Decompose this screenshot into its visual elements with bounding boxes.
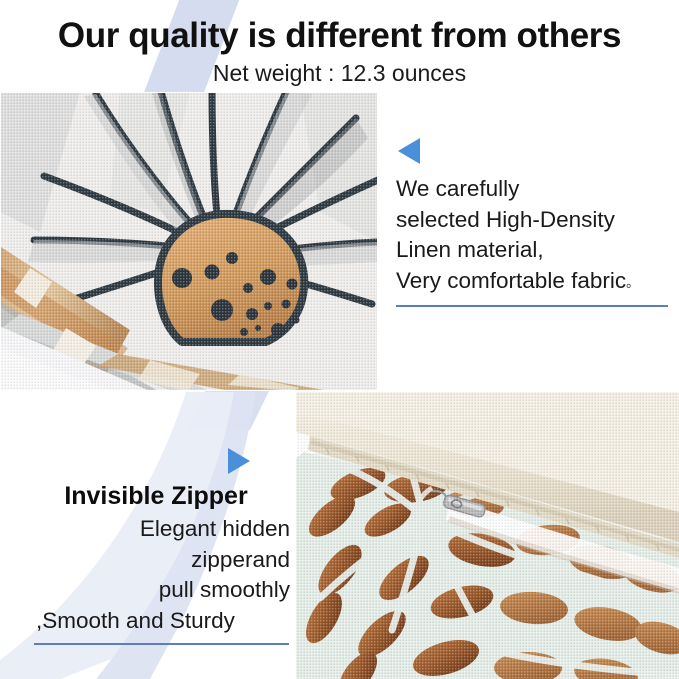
triangle-left-icon — [398, 138, 420, 164]
callout-zipper: Invisible Zipper Elegant hidden zipperan… — [22, 448, 290, 645]
callout-zipper-line-4: ,Smooth and Sturdy — [22, 606, 290, 637]
callout-zipper-rule — [34, 643, 289, 645]
callout-zipper-heading: Invisible Zipper — [22, 480, 290, 512]
callout-material-text: We carefully selected High-Density Linen… — [396, 174, 668, 298]
full-width-period-mark: 。 — [626, 275, 639, 290]
callout-zipper-line-2: zipperand — [22, 545, 290, 576]
callout-zipper-text: Elegant hidden zipperand pull smoothly ,… — [22, 514, 290, 636]
page-title: Our quality is different from others — [0, 14, 679, 58]
callout-material-line-1: We carefully — [396, 174, 668, 205]
callout-zipper-line-3: pull smoothly — [22, 575, 290, 606]
callout-material: We carefully selected High-Density Linen… — [396, 138, 668, 307]
infographic-page: Our quality is different from others Net… — [0, 0, 679, 679]
callout-material-line-3: Linen material, — [396, 235, 668, 266]
triangle-right-icon — [228, 448, 250, 474]
daisy-linen-fabric-photo — [0, 92, 378, 391]
callout-material-line-2: selected High-Density — [396, 205, 668, 236]
invisible-zipper-pillow-photo — [296, 392, 679, 679]
callout-material-rule — [396, 305, 668, 307]
net-weight-subtitle: Net weight : 12.3 ounces — [0, 58, 679, 88]
callout-zipper-line-1: Elegant hidden — [22, 514, 290, 545]
callout-material-line-4: Very comfortable fabric。 — [396, 266, 668, 299]
callout-material-line-4-text: Very comfortable fabric — [396, 268, 626, 293]
